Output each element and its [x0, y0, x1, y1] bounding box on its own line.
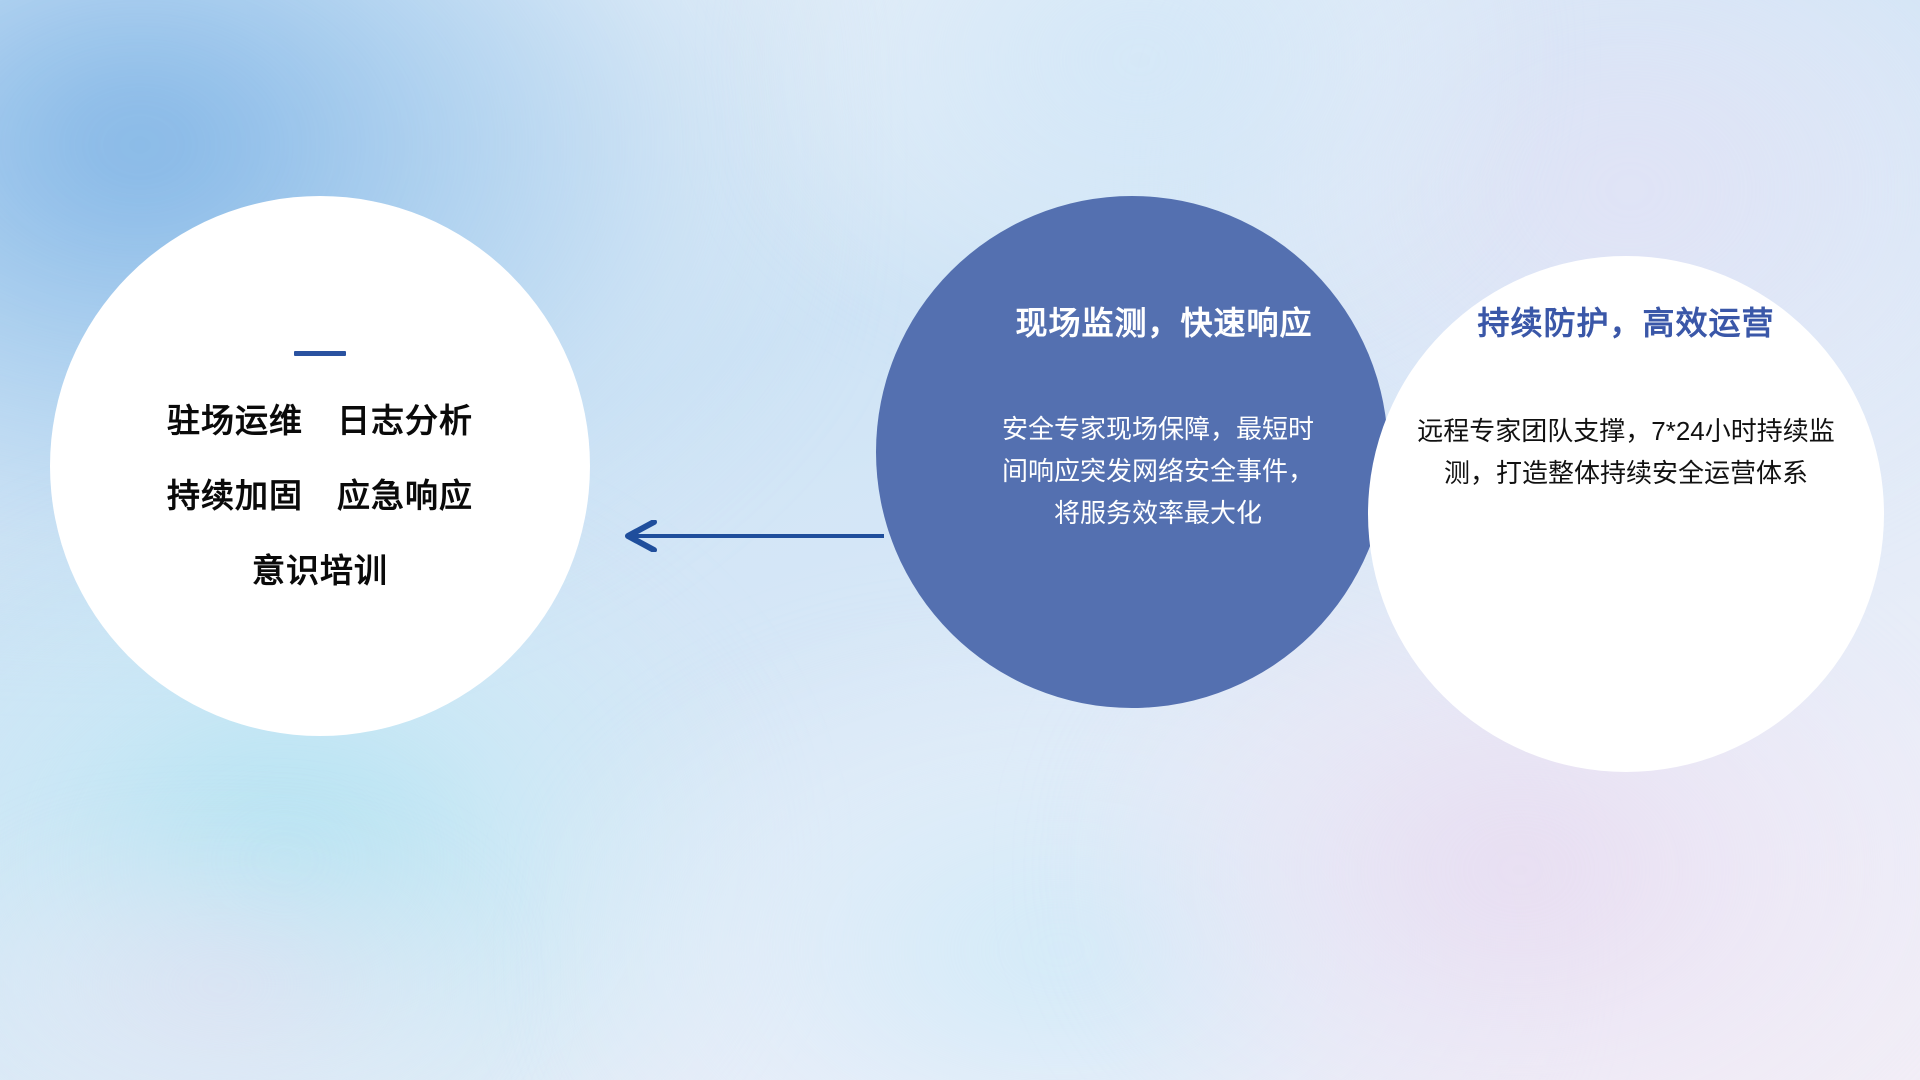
keyword-continuous-hardening: 持续加固: [167, 479, 303, 512]
keyword-row-1: 驻场运维 日志分析: [167, 404, 473, 437]
flow-arrow: [608, 520, 884, 552]
slide-canvas: 驻场运维 日志分析 持续加固 应急响应 意识培训 现场监测，快速响应 安全专家现…: [0, 0, 1920, 1080]
onsite-monitoring-circle[interactable]: 现场监测，快速响应 安全专家现场保障，最短时间响应突发网络安全事件，将服务效率最…: [876, 196, 1388, 708]
capabilities-circle-content: 驻场运维 日志分析 持续加固 应急响应 意识培训: [50, 196, 590, 736]
onsite-monitoring-content: 现场监测，快速响应 安全专家现场保障，最短时间响应突发网络安全事件，将服务效率最…: [876, 196, 1388, 708]
continuous-protection-title: 持续防护，高效运营: [1477, 298, 1774, 344]
keyword-emergency-response: 应急响应: [337, 479, 473, 512]
continuous-protection-circle[interactable]: 持续防护，高效运营 远程专家团队支撑，7*24小时持续监测，打造整体持续安全运营…: [1368, 256, 1884, 772]
onsite-monitoring-title: 现场监测，快速响应: [1015, 298, 1312, 344]
keyword-log-analysis: 日志分析: [337, 404, 473, 437]
keyword-onsite-ops: 驻场运维: [167, 404, 303, 437]
continuous-protection-content: 持续防护，高效运营 远程专家团队支撑，7*24小时持续监测，打造整体持续安全运营…: [1368, 256, 1884, 772]
accent-dash-divider: [294, 351, 346, 356]
continuous-protection-body: 远程专家团队支撑，7*24小时持续监测，打造整体持续安全运营体系: [1416, 410, 1836, 494]
capabilities-circle[interactable]: 驻场运维 日志分析 持续加固 应急响应 意识培训: [50, 196, 590, 736]
keyword-awareness-training: 意识培训: [252, 554, 388, 587]
background-glow-bottom-left-lavender: [0, 820, 500, 1080]
keyword-row-3: 意识培训: [252, 554, 388, 587]
keyword-row-2: 持续加固 应急响应: [167, 479, 473, 512]
onsite-monitoring-body: 安全专家现场保障，最短时间响应突发网络安全事件，将服务效率最大化: [993, 408, 1323, 534]
